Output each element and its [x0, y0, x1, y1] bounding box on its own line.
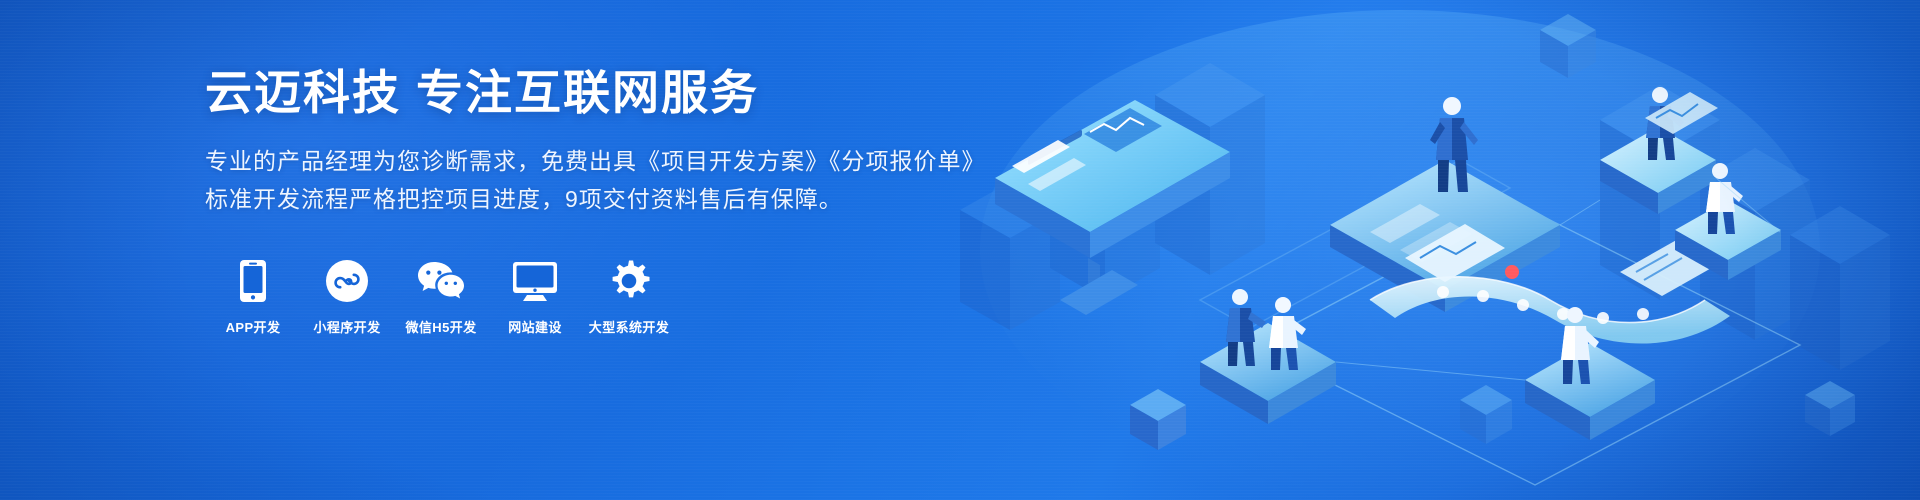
gear-icon — [608, 258, 650, 302]
mini-program-icon — [326, 258, 368, 302]
service-item-website[interactable]: 网站建设 — [499, 258, 571, 336]
monitor-icon — [513, 258, 557, 302]
service-label: 微信H5开发 — [405, 317, 476, 336]
wechat-icon — [416, 258, 466, 302]
service-list: APP开发 小程序开发 — [217, 258, 986, 336]
service-item-wechat-h5[interactable]: 微信H5开发 — [405, 258, 477, 336]
service-item-app[interactable]: APP开发 — [217, 258, 289, 336]
mobile-phone-icon — [240, 258, 266, 302]
hero-banner: 云迈科技 专注互联网服务 专业的产品经理为您诊断需求，免费出具《项目开发方案》《… — [0, 0, 1920, 500]
banner-copy: 云迈科技 专注互联网服务 专业的产品经理为您诊断需求，免费出具《项目开发方案》《… — [205, 64, 986, 336]
subtitle-line-1: 专业的产品经理为您诊断需求，免费出具《项目开发方案》《分项报价单》 — [205, 143, 986, 180]
service-item-large-system[interactable]: 大型系统开发 — [593, 258, 665, 336]
page-title: 云迈科技 专注互联网服务 — [205, 64, 986, 121]
isometric-data-platform-illustration — [900, 0, 1920, 500]
banner-subtitle: 专业的产品经理为您诊断需求，免费出具《项目开发方案》《分项报价单》 标准开发流程… — [205, 143, 986, 218]
service-label: 网站建设 — [508, 317, 562, 336]
subtitle-line-2: 标准开发流程严格把控项目进度，9项交付资料售后有保障。 — [205, 181, 986, 218]
service-label: APP开发 — [226, 317, 281, 336]
service-label: 大型系统开发 — [589, 317, 669, 336]
service-item-miniprogram[interactable]: 小程序开发 — [311, 258, 383, 336]
service-label: 小程序开发 — [313, 317, 380, 336]
